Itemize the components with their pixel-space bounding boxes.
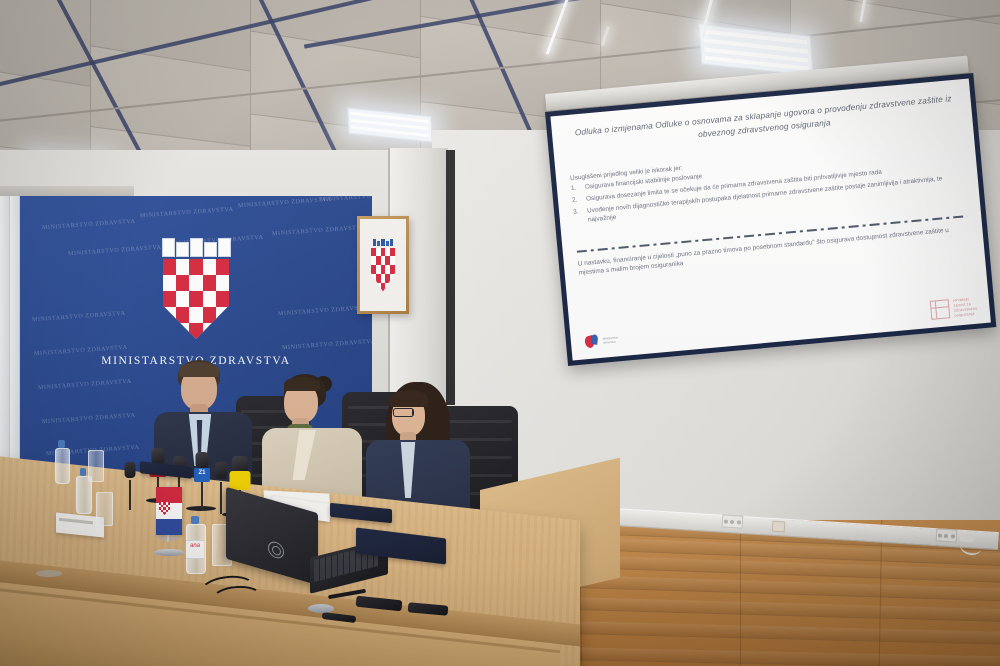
press-conference-photo: MINISTARSTVO ZDRAVSTVA MINISTARSTVO ZDRA…	[0, 0, 1000, 666]
hzzo-line-4: osiguranje	[954, 311, 978, 318]
water-bottle-ana[interactable]: ana	[186, 516, 204, 574]
eyeglasses-icon	[393, 408, 414, 417]
presentation-slide: Odluka o izmjenama Odluke o osnovama za …	[550, 78, 990, 360]
backdrop-watermark: MINISTARSTVO ZDRAVSTVA	[140, 207, 234, 220]
backdrop-watermark: MINISTARSTVO ZDRAVSTVA	[38, 379, 132, 392]
water-bottle[interactable]	[76, 468, 90, 514]
hair-top	[179, 362, 219, 377]
water-bottle[interactable]	[55, 440, 68, 484]
microphone-flag-blue: Z1	[194, 468, 210, 482]
backdrop-watermark: MINISTARSTVO ZDRAVSTVA	[238, 197, 332, 210]
heart-icon	[584, 334, 600, 350]
gooseneck-microphone[interactable]	[308, 586, 368, 616]
slide-list-number: 3.	[573, 209, 579, 218]
hair-front	[284, 377, 320, 391]
slide-numbered-list: 1. Osigurava financijski stabilnije posl…	[571, 149, 967, 229]
ministry-logo-text: Ministarstvo zdravstva	[603, 336, 619, 345]
data-jack[interactable]	[772, 521, 786, 533]
slide-list-number: 2.	[572, 197, 578, 206]
power-socket[interactable]	[936, 528, 958, 542]
croatian-coat-of-arms-icon	[157, 240, 235, 339]
croatian-desk-flag	[152, 482, 186, 556]
microphone-dark-3	[122, 462, 138, 510]
flag-coat-of-arms	[159, 500, 170, 513]
bottle-label: ana	[186, 540, 204, 559]
ministry-logo-line2: zdravstva	[603, 340, 619, 345]
hair-front	[390, 390, 428, 407]
backdrop-watermark: MINISTARSTVO ZDRAVSTVA	[42, 413, 136, 426]
flag-base	[154, 549, 184, 556]
hzzo-logo-text: Hrvatski zavod za zdravstveno osiguranje	[953, 296, 978, 318]
laptop-lid	[226, 487, 318, 585]
backdrop-watermark: MINISTARSTVO ZDRAVSTVA	[320, 196, 372, 203]
wall-recess	[446, 150, 455, 405]
microphone-blue: Z1	[192, 452, 212, 510]
microphone-flag-yellow	[230, 471, 251, 490]
table-grommet	[36, 570, 62, 577]
framed-coat-of-arms-picture	[357, 216, 409, 314]
backdrop-watermark: MINISTARSTVO ZDRAVSTVA	[68, 245, 162, 258]
backdrop-watermark: MINISTARSTVO ZDRAVSTVA	[42, 219, 136, 232]
drinking-glass[interactable]	[96, 492, 113, 526]
hzzo-mark-icon	[930, 299, 951, 320]
backdrop-watermark: MINISTARSTVO ZDRAVSTVA	[32, 311, 126, 324]
hzzo-logo: Hrvatski zavod za zdravstveno osiguranje	[930, 296, 978, 320]
slide-list-number: 1.	[571, 184, 577, 193]
backdrop-watermark: MINISTARSTVO ZDRAVSTVA	[272, 225, 366, 238]
backdrop-watermark: MINISTARSTVO ZDRAVSTVA	[282, 339, 372, 352]
projection-screen: Odluka o izmjenama Odluke o osnovama za …	[545, 73, 996, 366]
ministry-logo: Ministarstvo zdravstva	[584, 332, 619, 350]
power-socket[interactable]	[722, 514, 744, 528]
